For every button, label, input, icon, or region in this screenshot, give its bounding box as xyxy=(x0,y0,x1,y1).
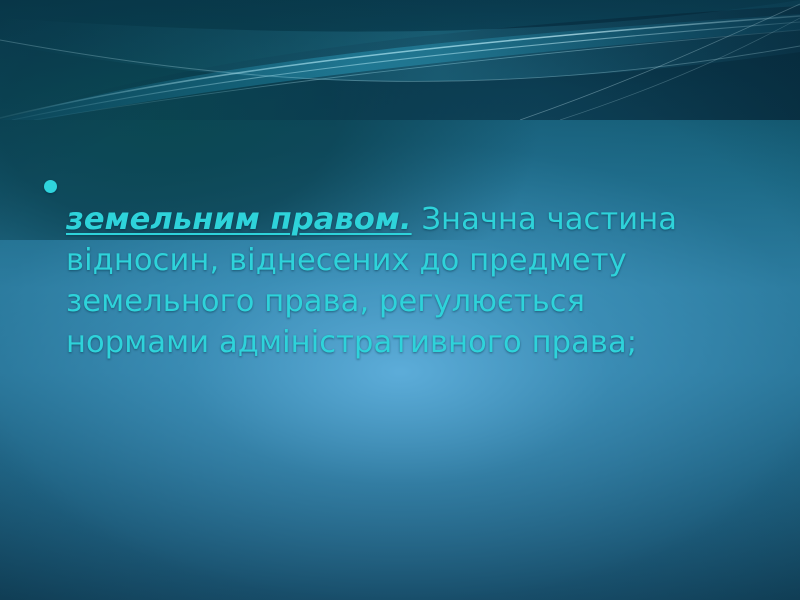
bullet-circle-icon xyxy=(44,180,57,193)
emphasized-term: земельним правом. xyxy=(66,202,412,237)
bullet-paragraph: земельним правом. Значна частина відноси… xyxy=(66,199,734,363)
bullet-list-item: земельним правом. Значна частина відноси… xyxy=(44,168,734,393)
header-band xyxy=(0,0,800,90)
slide-body: земельним правом. Значна частина відноси… xyxy=(44,168,734,393)
slide-canvas: земельним правом. Значна частина відноси… xyxy=(0,0,800,600)
wave-decoration xyxy=(0,0,800,120)
